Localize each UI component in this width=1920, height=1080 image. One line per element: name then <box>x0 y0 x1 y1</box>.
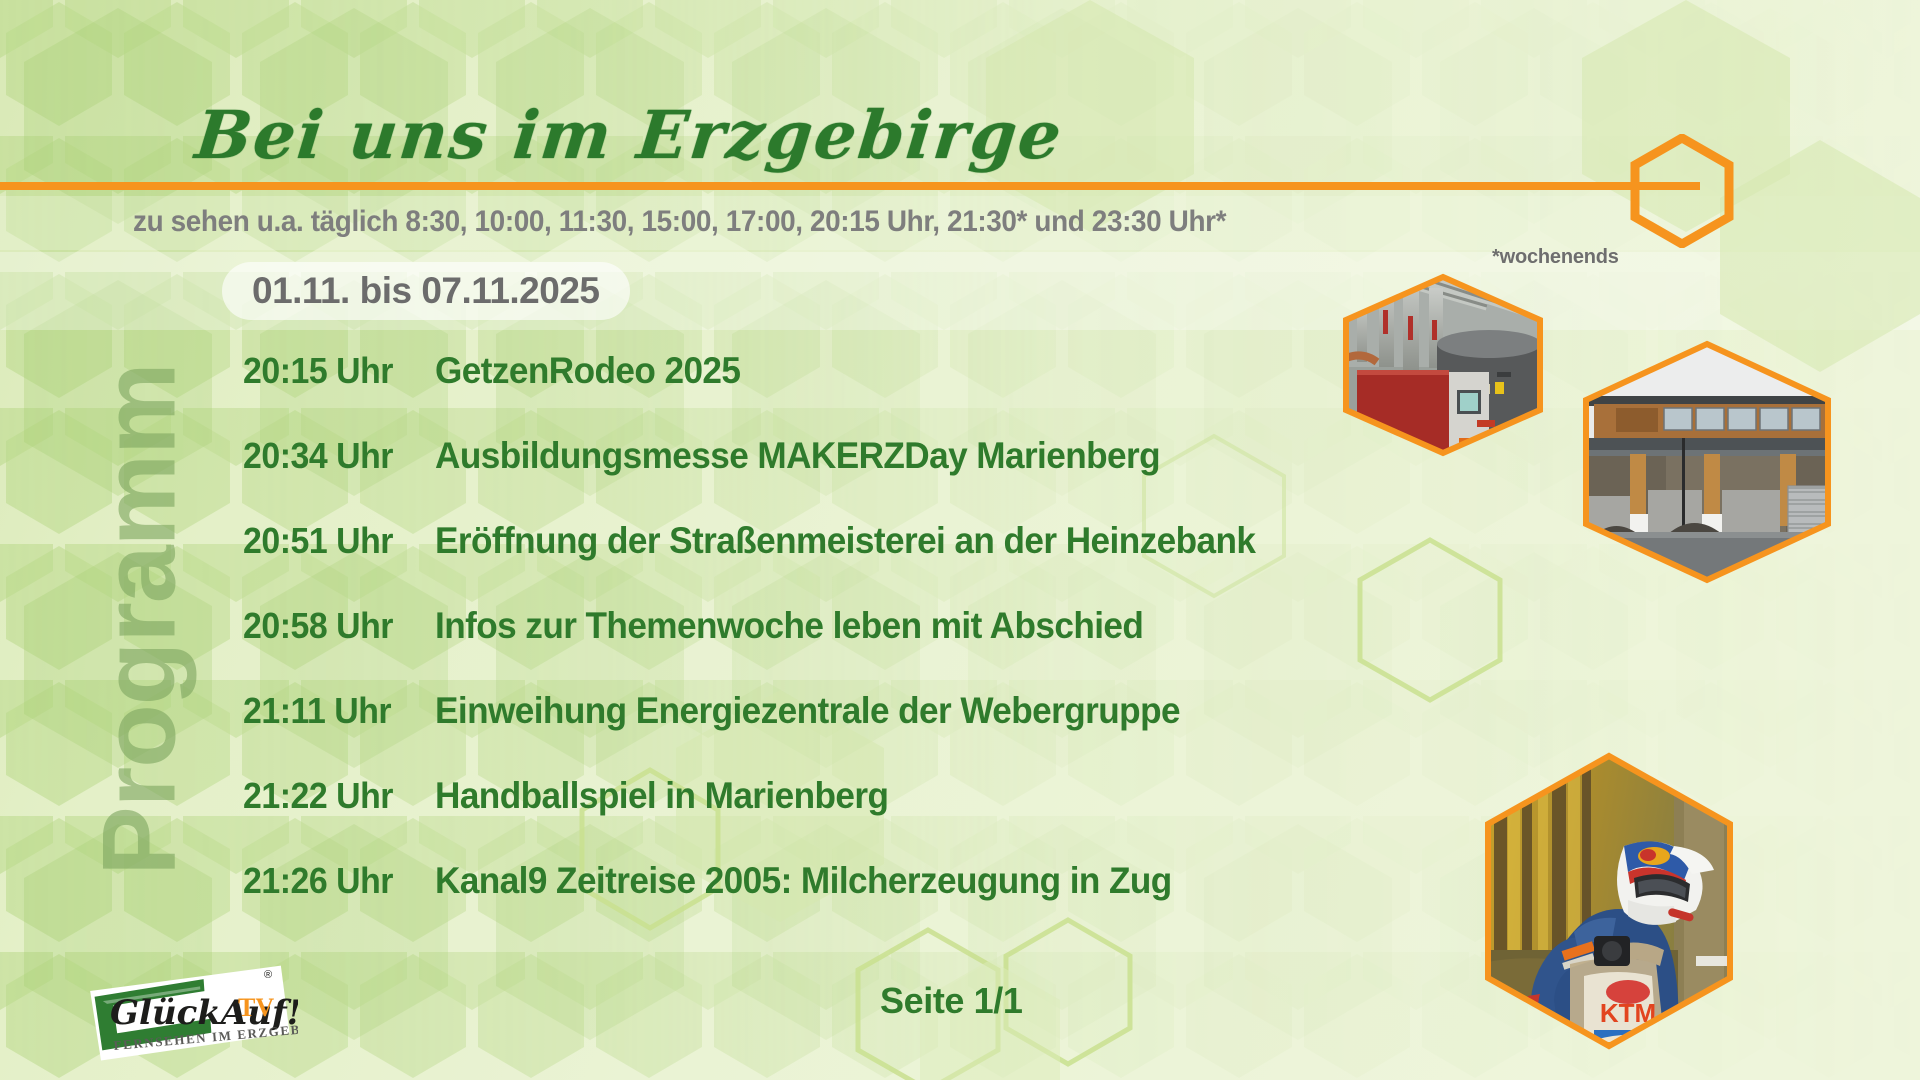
schedule-event: Handballspiel in Marienberg <box>435 775 888 817</box>
schedule-row[interactable]: 20:58 Uhr Infos zur Themenwoche leben mi… <box>243 605 1513 690</box>
photo-getzenrodeo: KTM <box>1478 750 1740 1052</box>
schedule-time: 20:34 Uhr <box>243 435 423 477</box>
schedule-time: 20:58 Uhr <box>243 605 423 647</box>
schedule-event: Kanal9 Zeitreise 2005: Milcherzeugung in… <box>435 860 1172 902</box>
schedule-time: 21:11 Uhr <box>243 690 423 732</box>
orange-hexagon-icon <box>1630 134 1734 248</box>
logo-glueckauf-tv[interactable]: GlückAuf! TV ® FERNSEHEN IM ERZGEBIRGE <box>86 962 298 1066</box>
orange-rule-line <box>0 182 1700 190</box>
schedule-time: 20:15 Uhr <box>243 350 423 392</box>
photo-energiezentrale <box>1337 272 1549 458</box>
schedule-event: Eröffnung der Straßenmeisterei an der He… <box>435 520 1255 562</box>
schedule-row[interactable]: 21:22 Uhr Handballspiel in Marienberg <box>243 775 1513 860</box>
schedule-list: 20:15 Uhr GetzenRodeo 2025 20:34 Uhr Aus… <box>243 350 1513 945</box>
logo-tv-mark: TV <box>238 993 274 1022</box>
schedule-row[interactable]: 20:15 Uhr GetzenRodeo 2025 <box>243 350 1513 435</box>
schedule-event: GetzenRodeo 2025 <box>435 350 740 392</box>
schedule-time: 21:22 Uhr <box>243 775 423 817</box>
date-range-label: 01.11. bis 07.11.2025 <box>252 270 600 312</box>
schedule-row[interactable]: 21:11 Uhr Einweihung Energiezentrale der… <box>243 690 1513 775</box>
page-indicator: Seite 1/1 <box>880 980 1023 1022</box>
schedule-row[interactable]: 20:51 Uhr Eröffnung der Straßenmeisterei… <box>243 520 1513 605</box>
date-range-badge: 01.11. bis 07.11.2025 <box>222 262 630 320</box>
schedule-row[interactable]: 20:34 Uhr Ausbildungsmesse MAKERZDay Mar… <box>243 435 1513 520</box>
schedule-event: Infos zur Themenwoche leben mit Abschied <box>435 605 1143 647</box>
photo-strassenmeisterei <box>1576 338 1838 586</box>
footnote-weekends: *wochenends <box>1492 246 1619 269</box>
schedule-time: 21:26 Uhr <box>243 860 423 902</box>
page-title: Bei uns im Erzgebirge <box>192 96 1067 174</box>
broadcast-times: zu sehen u.a. täglich 8:30, 10:00, 11:30… <box>133 205 1226 239</box>
logo-registered-icon: ® <box>264 969 272 981</box>
schedule-time: 20:51 Uhr <box>243 520 423 562</box>
schedule-event: Ausbildungsmesse MAKERZDay Marienberg <box>435 435 1160 477</box>
schedule-event: Einweihung Energiezentrale der Webergrup… <box>435 690 1180 732</box>
schedule-row[interactable]: 21:26 Uhr Kanal9 Zeitreise 2005: Milcher… <box>243 860 1513 945</box>
